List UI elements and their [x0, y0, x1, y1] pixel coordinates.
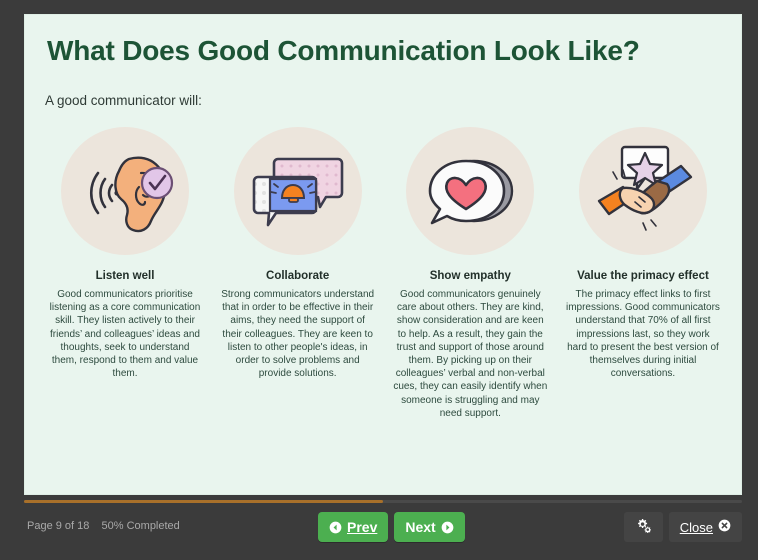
chevron-right-circle-icon [441, 521, 454, 534]
player-footer: Page 9 of 18 50% Completed Prev Next [0, 505, 758, 560]
column-body: Good communicators prioritise listening … [43, 288, 207, 380]
settings-button[interactable] [624, 512, 663, 542]
column-heading: Listen well [96, 269, 155, 284]
prev-button-label: Prev [347, 519, 377, 535]
cogs-icon [635, 518, 652, 536]
close-button-label: Close [680, 520, 713, 535]
close-circle-icon [718, 519, 731, 535]
column-heading: Collaborate [266, 269, 329, 284]
speech-bubbles-bell-icon [234, 127, 362, 255]
content-column: Collaborate Strong communicators underst… [216, 127, 380, 380]
page-title: What Does Good Communication Look Like? [47, 35, 640, 67]
content-columns: Listen well Good communicators prioritis… [43, 127, 725, 420]
slide-panel: What Does Good Communication Look Like? … [24, 14, 742, 495]
page-counter-label: Page 9 of 18 [27, 520, 89, 532]
next-button-label: Next [405, 519, 435, 535]
column-body: Strong communicators understand that in … [216, 288, 380, 380]
content-column: Show empathy Good communicators genuinel… [388, 127, 552, 420]
progress-bar-track[interactable] [24, 500, 742, 503]
chevron-left-circle-icon [329, 521, 342, 534]
column-body: The primacy effect links to first impres… [561, 288, 725, 380]
ear-listening-icon [61, 127, 189, 255]
completion-label: 50% Completed [102, 520, 180, 532]
footer-tools: Close [624, 512, 742, 542]
content-column: Value the primacy effect The primacy eff… [561, 127, 725, 380]
page-status: Page 9 of 18 50% Completed [27, 520, 180, 532]
course-player-frame: What Does Good Communication Look Like? … [0, 0, 758, 560]
next-button[interactable]: Next [394, 512, 464, 542]
handshake-star-icon [579, 127, 707, 255]
column-body: Good communicators genuinely care about … [388, 288, 552, 420]
navigation-buttons: Prev Next [318, 512, 465, 542]
close-button[interactable]: Close [669, 512, 742, 542]
content-column: Listen well Good communicators prioritis… [43, 127, 207, 380]
slide-subtitle: A good communicator will: [45, 93, 202, 108]
column-heading: Value the primacy effect [577, 269, 709, 284]
progress-bar-fill [24, 500, 383, 503]
prev-button[interactable]: Prev [318, 512, 388, 542]
column-heading: Show empathy [430, 269, 511, 284]
speech-bubble-heart-icon [406, 127, 534, 255]
